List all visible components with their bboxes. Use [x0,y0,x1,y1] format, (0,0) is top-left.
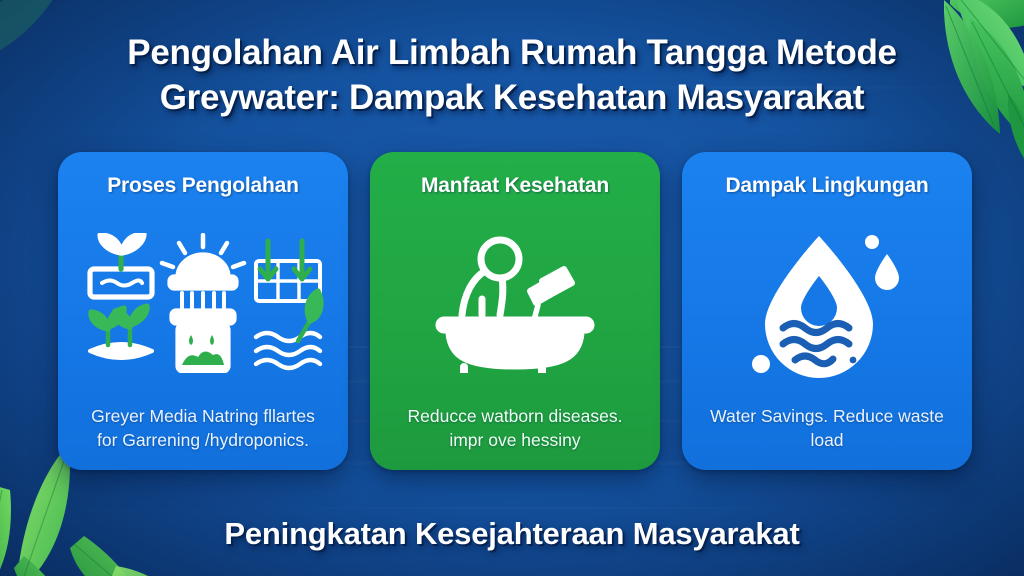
page-title-line-2: Greywater: Dampak Kesehatan Masyarakat [58,75,966,120]
infographic-canvas: Pengolahan Air Limbah Rumah Tangga Metod… [0,0,1024,576]
background-texture-line [0,507,1024,509]
card-manfaat-kesehatan[interactable]: Manfaat Kesehatan [370,152,660,470]
bottom-banner-text: Peningkatan Kesejahteraan Masyarakat [0,516,1024,552]
card-row: Proses Pengolahan [58,152,972,470]
page-title-line-1: Pengolahan Air Limbah Rumah Tangga Metod… [58,30,966,75]
page-title: Pengolahan Air Limbah Rumah Tangga Metod… [0,30,1024,120]
card-icon-zone [386,202,644,404]
card-dampak-lingkungan[interactable]: Dampak Lingkungan [682,152,972,470]
bottom-banner: Peningkatan Kesejahteraan Masyarakat [0,516,1024,552]
card-body-text: Water Savings. Reduce waste load [698,404,956,456]
person-washing-bathtub-icon [430,233,600,373]
card-body-text: Greyer Media Natring fllartes for Garren… [74,404,332,456]
card-proses-pengolahan[interactable]: Proses Pengolahan [58,152,348,470]
card-title: Dampak Lingkungan [725,174,928,202]
plant-filter-cluster-icon [78,233,328,373]
card-title: Manfaat Kesehatan [421,174,609,202]
card-body-text: Reducce watborn diseases. impr ove hessi… [386,404,644,456]
card-icon-zone [698,202,956,404]
card-title: Proses Pengolahan [107,174,299,202]
water-droplet-icon [747,228,907,378]
card-icon-zone [74,202,332,404]
